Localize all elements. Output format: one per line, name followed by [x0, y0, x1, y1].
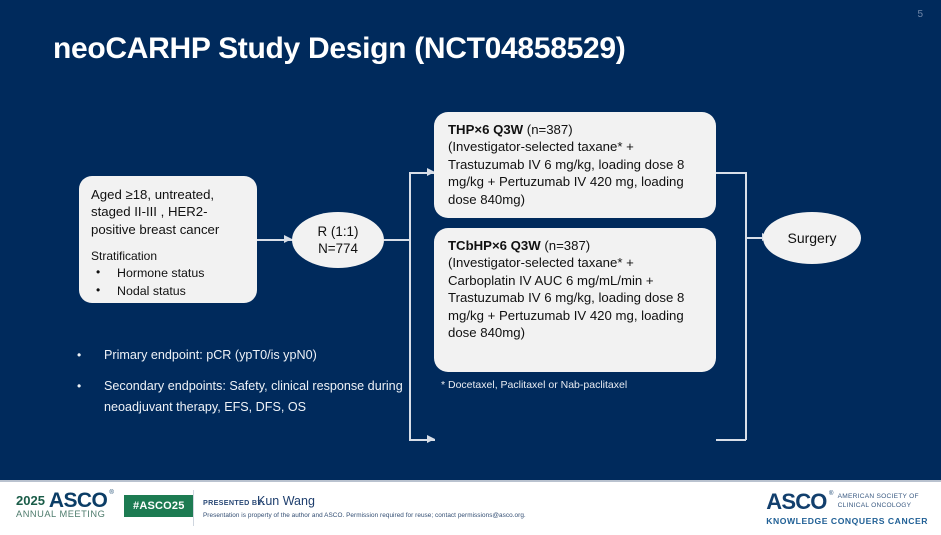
asco-society-wordmark: ASCO ® [766, 491, 826, 513]
trademark-icon: ® [109, 491, 113, 496]
page-title: neoCARHP Study Design (NCT04858529) [53, 32, 625, 66]
arm-bottom-regimen: TCbHP×6 Q3W [448, 238, 541, 253]
randomization-ratio: R (1:1) [318, 223, 359, 240]
list-item: Secondary endpoints: Safety, clinical re… [74, 376, 434, 419]
arrow-icon [427, 435, 435, 443]
presented-by-label: PRESENTED BY: [203, 498, 265, 507]
slide-footer: 2025 ASCO ® ANNUAL MEETING #ASCO25 PRESE… [0, 480, 941, 535]
arm-top-regimen: THP×6 Q3W [448, 122, 523, 137]
arm-top-detail: (Investigator-selected taxane* + Trastuz… [448, 138, 704, 208]
stratification-list: Hormone status Nodal status [91, 265, 246, 300]
arm-footnote: * Docetaxel, Paclitaxel or Nab-paclitaxe… [441, 379, 627, 391]
society-name-line2: CLINICAL ONCOLOGY [838, 502, 919, 511]
stratification-label: Stratification [91, 249, 246, 265]
treatment-arm-bottom: TCbHP×6 Q3W (n=387) (Investigator-select… [434, 228, 716, 372]
asco-wordmark: ASCO ® [49, 492, 107, 510]
arm-top-header-line: THP×6 Q3W (n=387) [448, 121, 704, 138]
arrow-icon [284, 235, 292, 243]
asco-annual-meeting-logo: 2025 ASCO ® [16, 492, 107, 510]
list-item: Nodal status [91, 283, 246, 301]
endpoints-list: Primary endpoint: pCR (ypT0/is ypN0) Sec… [74, 345, 434, 419]
footer-divider [193, 490, 194, 526]
connector-from-arm-top [716, 172, 746, 174]
connector-merge-vertical [745, 172, 747, 440]
randomization-total: N=774 [318, 240, 358, 257]
arm-bottom-count: (n=387) [544, 238, 590, 253]
asco-society-row: ASCO ® AMERICAN SOCIETY OF CLINICAL ONCO… [766, 491, 928, 513]
meeting-subtitle: ANNUAL MEETING [16, 509, 105, 519]
asco-society-wordmark-text: ASCO [766, 489, 826, 514]
permission-note: Presentation is property of the author a… [203, 512, 526, 519]
asco-society-name: AMERICAN SOCIETY OF CLINICAL ONCOLOGY [838, 493, 919, 511]
surgery-label: Surgery [787, 230, 836, 246]
list-item: Hormone status [91, 265, 246, 283]
asco-tagline: KNOWLEDGE CONQUERS CANCER [766, 516, 928, 526]
meeting-year: 2025 [16, 494, 45, 507]
asco-society-logo: ASCO ® AMERICAN SOCIETY OF CLINICAL ONCO… [766, 491, 928, 526]
hashtag-badge: #ASCO25 [124, 495, 194, 517]
eligibility-box: Aged ≥18, untreated, staged II-III , HER… [79, 176, 257, 303]
society-name-line1: AMERICAN SOCIETY OF [838, 493, 919, 502]
endpoints-section: Primary endpoint: pCR (ypT0/is ypN0) Sec… [74, 345, 434, 428]
arm-bottom-detail: (Investigator-selected taxane* + Carbopl… [448, 254, 704, 341]
treatment-arm-top: THP×6 Q3W (n=387) (Investigator-selected… [434, 112, 716, 218]
slide-canvas: 5 neoCARHP Study Design (NCT04858529) Ag… [0, 0, 941, 535]
slide-number: 5 [917, 9, 923, 20]
trademark-icon: ® [829, 491, 833, 497]
randomization-node: R (1:1) N=774 [292, 212, 384, 268]
eligibility-criteria-text: Aged ≥18, untreated, staged II-III , HER… [91, 186, 246, 238]
connector-from-arm-bottom [716, 439, 746, 441]
connector-split-stub [384, 239, 410, 241]
list-item: Primary endpoint: pCR (ypT0/is ypN0) [74, 345, 434, 367]
presenter-name: Kun Wang [257, 494, 315, 508]
arm-bottom-header-line: TCbHP×6 Q3W (n=387) [448, 237, 704, 254]
surgery-node: Surgery [763, 212, 861, 264]
arm-top-count: (n=387) [527, 122, 573, 137]
